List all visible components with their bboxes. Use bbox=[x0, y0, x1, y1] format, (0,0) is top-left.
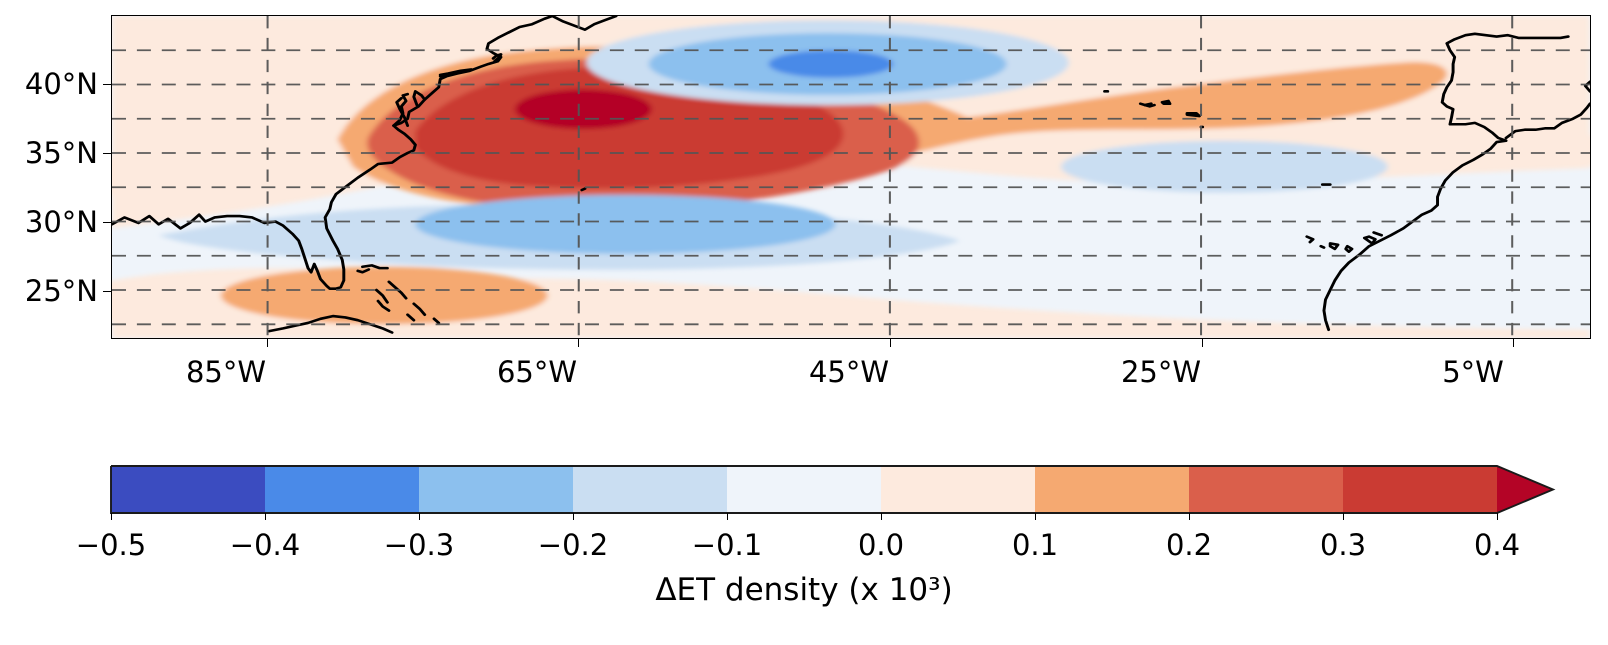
cbtick-label-5: 0.0 bbox=[858, 528, 904, 562]
cbtick-mark-0 bbox=[111, 513, 112, 520]
cbtick-label-4: −0.1 bbox=[692, 528, 762, 562]
cbtick-mark-8 bbox=[1343, 513, 1344, 520]
xtick-label-85w: 85°W bbox=[186, 355, 266, 389]
xtick-mark-5w bbox=[1513, 339, 1514, 347]
cbtick-label-1: −0.4 bbox=[230, 528, 300, 562]
ytick-label-40: 40°N bbox=[25, 67, 98, 101]
xtick-mark-25w bbox=[1202, 339, 1203, 347]
xtick-mark-65w bbox=[578, 339, 579, 347]
ytick-label-35: 35°N bbox=[25, 136, 98, 170]
cbtick-mark-6 bbox=[1035, 513, 1036, 520]
ytick-label-30: 30°N bbox=[25, 205, 98, 239]
colorbar-svg bbox=[0, 455, 1608, 525]
ytick-label-25: 25°N bbox=[25, 274, 98, 308]
xtick-label-5w: 5°W bbox=[1442, 355, 1504, 389]
cbtick-label-0: −0.5 bbox=[76, 528, 146, 562]
ytick-mark-40 bbox=[103, 84, 111, 85]
map-contour-svg bbox=[112, 16, 1590, 338]
cbtick-mark-1 bbox=[265, 513, 266, 520]
ytick-mark-25 bbox=[103, 291, 111, 292]
xtick-mark-85w bbox=[267, 339, 268, 347]
xtick-mark-45w bbox=[890, 339, 891, 347]
cbtick-mark-4 bbox=[727, 513, 728, 520]
cbtick-label-3: −0.2 bbox=[538, 528, 608, 562]
cbtick-mark-3 bbox=[573, 513, 574, 520]
colorbar-title: ΔET density (x 10³) bbox=[0, 572, 1608, 608]
cbtick-label-9: 0.4 bbox=[1474, 528, 1520, 562]
cbtick-mark-2 bbox=[419, 513, 420, 520]
cbtick-mark-9 bbox=[1497, 513, 1498, 520]
cbtick-label-2: −0.3 bbox=[384, 528, 454, 562]
xtick-label-25w: 25°W bbox=[1121, 355, 1201, 389]
cbtick-label-8: 0.3 bbox=[1320, 528, 1366, 562]
xtick-label-45w: 45°W bbox=[809, 355, 889, 389]
colorbar-bands bbox=[111, 466, 1553, 513]
cbtick-label-7: 0.2 bbox=[1166, 528, 1212, 562]
cbtick-mark-5 bbox=[881, 513, 882, 520]
cbtick-mark-7 bbox=[1189, 513, 1190, 520]
cbtick-label-6: 0.1 bbox=[1012, 528, 1058, 562]
ytick-mark-35 bbox=[103, 153, 111, 154]
ytick-mark-30 bbox=[103, 222, 111, 223]
xtick-label-65w: 65°W bbox=[497, 355, 577, 389]
map-panel bbox=[111, 15, 1591, 339]
